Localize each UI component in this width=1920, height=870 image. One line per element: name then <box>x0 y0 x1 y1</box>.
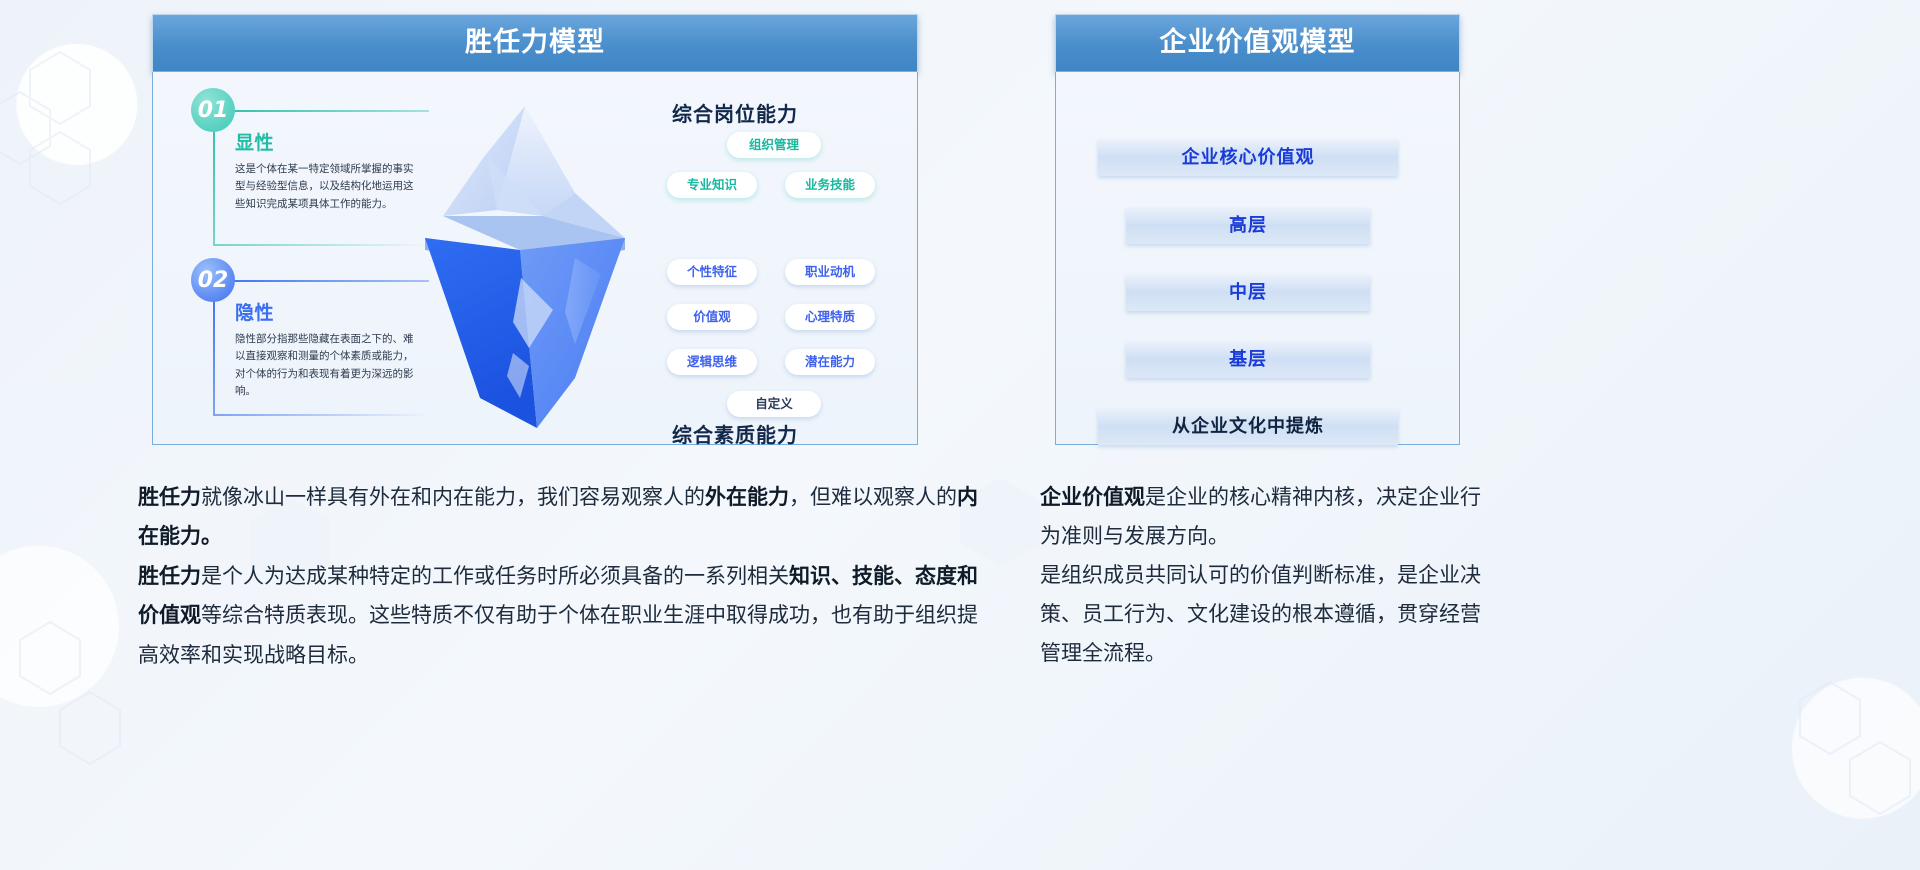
corporate-values-description: 企业价值观是企业的核心精神内核，决定企业行为准则与发展方向。 是组织成员共同认可… <box>1040 478 1490 673</box>
values-bold-term: 企业价值观 <box>1040 485 1145 509</box>
section-implicit-text: 隐性部分指那些隐藏在表面之下的、难以直接观察和测量的个体素质或能力，对个体的行为… <box>235 331 419 400</box>
tag-potential-ability[interactable]: 潜在能力 <box>785 349 875 375</box>
desc-text-3: 以观察人的 <box>852 485 957 509</box>
value-bar-middle-level[interactable]: 中层 <box>1126 275 1370 311</box>
corporate-values-model-panel: 企业价值观模型 企业核心价值观 高层 中层 基层 从企业文化中提炼 <box>1055 14 1460 445</box>
section-explicit-box: 显性 这是个体在某一特定领域所掌握的事实型与经验型信息，以及结构化地运用这些知识… <box>213 110 429 246</box>
corporate-values-model-title: 企业价值观模型 <box>1055 14 1460 72</box>
desc-text-5: 等综合特质表现。这些特质不仅有助于个体在职业生涯中取得 <box>201 603 768 627</box>
section-implicit-number: 02 <box>191 258 235 302</box>
tag-professional-knowledge[interactable]: 专业知识 <box>667 172 757 198</box>
corporate-values-model-body: 企业核心价值观 高层 中层 基层 从企业文化中提炼 <box>1055 72 1460 445</box>
section-implicit-title: 隐性 <box>235 298 419 325</box>
section-implicit-box: 隐性 隐性部分指那些隐藏在表面之下的、难以直接观察和测量的个体素质或能力，对个体… <box>213 280 429 416</box>
competency-model-panel: 胜任力模型 <box>152 14 918 445</box>
desc-text-2: ，但难 <box>789 485 852 509</box>
tag-business-skills[interactable]: 业务技能 <box>785 172 875 198</box>
competency-model-title: 胜任力模型 <box>152 14 918 72</box>
desc-bold-external: 外在能力 <box>705 485 789 509</box>
value-bar-senior-level[interactable]: 高层 <box>1126 208 1370 244</box>
desc-bold-competency-2: 胜任力 <box>138 564 201 588</box>
tag-logical-thinking[interactable]: 逻辑思维 <box>667 349 757 375</box>
tag-custom[interactable]: 自定义 <box>727 391 821 417</box>
tag-organization-management[interactable]: 组织管理 <box>727 132 821 158</box>
value-bar-base-level[interactable]: 基层 <box>1126 342 1370 378</box>
desc-text-4: 是个人为达成某种特定的工作或任务时所必须具备的一系列相关 <box>201 564 789 588</box>
competency-description: 胜任力就像冰山一样具有外在和内在能力，我们容易观察人的外在能力，但难以观察人的内… <box>138 478 988 675</box>
top-capability-title: 综合岗位能力 <box>672 98 798 127</box>
desc-bold-competency: 胜任力 <box>138 485 201 509</box>
values-text-1: 是企业的核心精神内核，决定 <box>1145 485 1418 509</box>
tag-psychological-traits[interactable]: 心理特质 <box>785 304 875 330</box>
iceberg-illustration-icon <box>425 98 655 428</box>
values-text-3: 是组织成员共同认可的价值判断标准，是 <box>1040 563 1418 587</box>
desc-bold-knowledge-skill: 知识、技 <box>789 564 873 588</box>
desc-text-1: 就像冰山一样具有外在和内在能力，我们容易观察人的 <box>201 485 705 509</box>
section-explicit-title: 显性 <box>235 128 419 155</box>
section-explicit-number: 01 <box>191 88 235 132</box>
tag-values[interactable]: 价值观 <box>667 304 757 330</box>
tag-personality-traits[interactable]: 个性特征 <box>667 259 757 285</box>
value-bar-core-values[interactable]: 企业核心价值观 <box>1098 140 1398 176</box>
value-bar-extracted-from-culture[interactable]: 从企业文化中提炼 <box>1098 409 1398 445</box>
section-explicit-text: 这是个体在某一特定领域所掌握的事实型与经验型信息，以及结构化地运用这些知识完成某… <box>235 161 419 213</box>
tag-career-motivation[interactable]: 职业动机 <box>785 259 875 285</box>
bottom-capability-title: 综合素质能力 <box>672 419 798 448</box>
